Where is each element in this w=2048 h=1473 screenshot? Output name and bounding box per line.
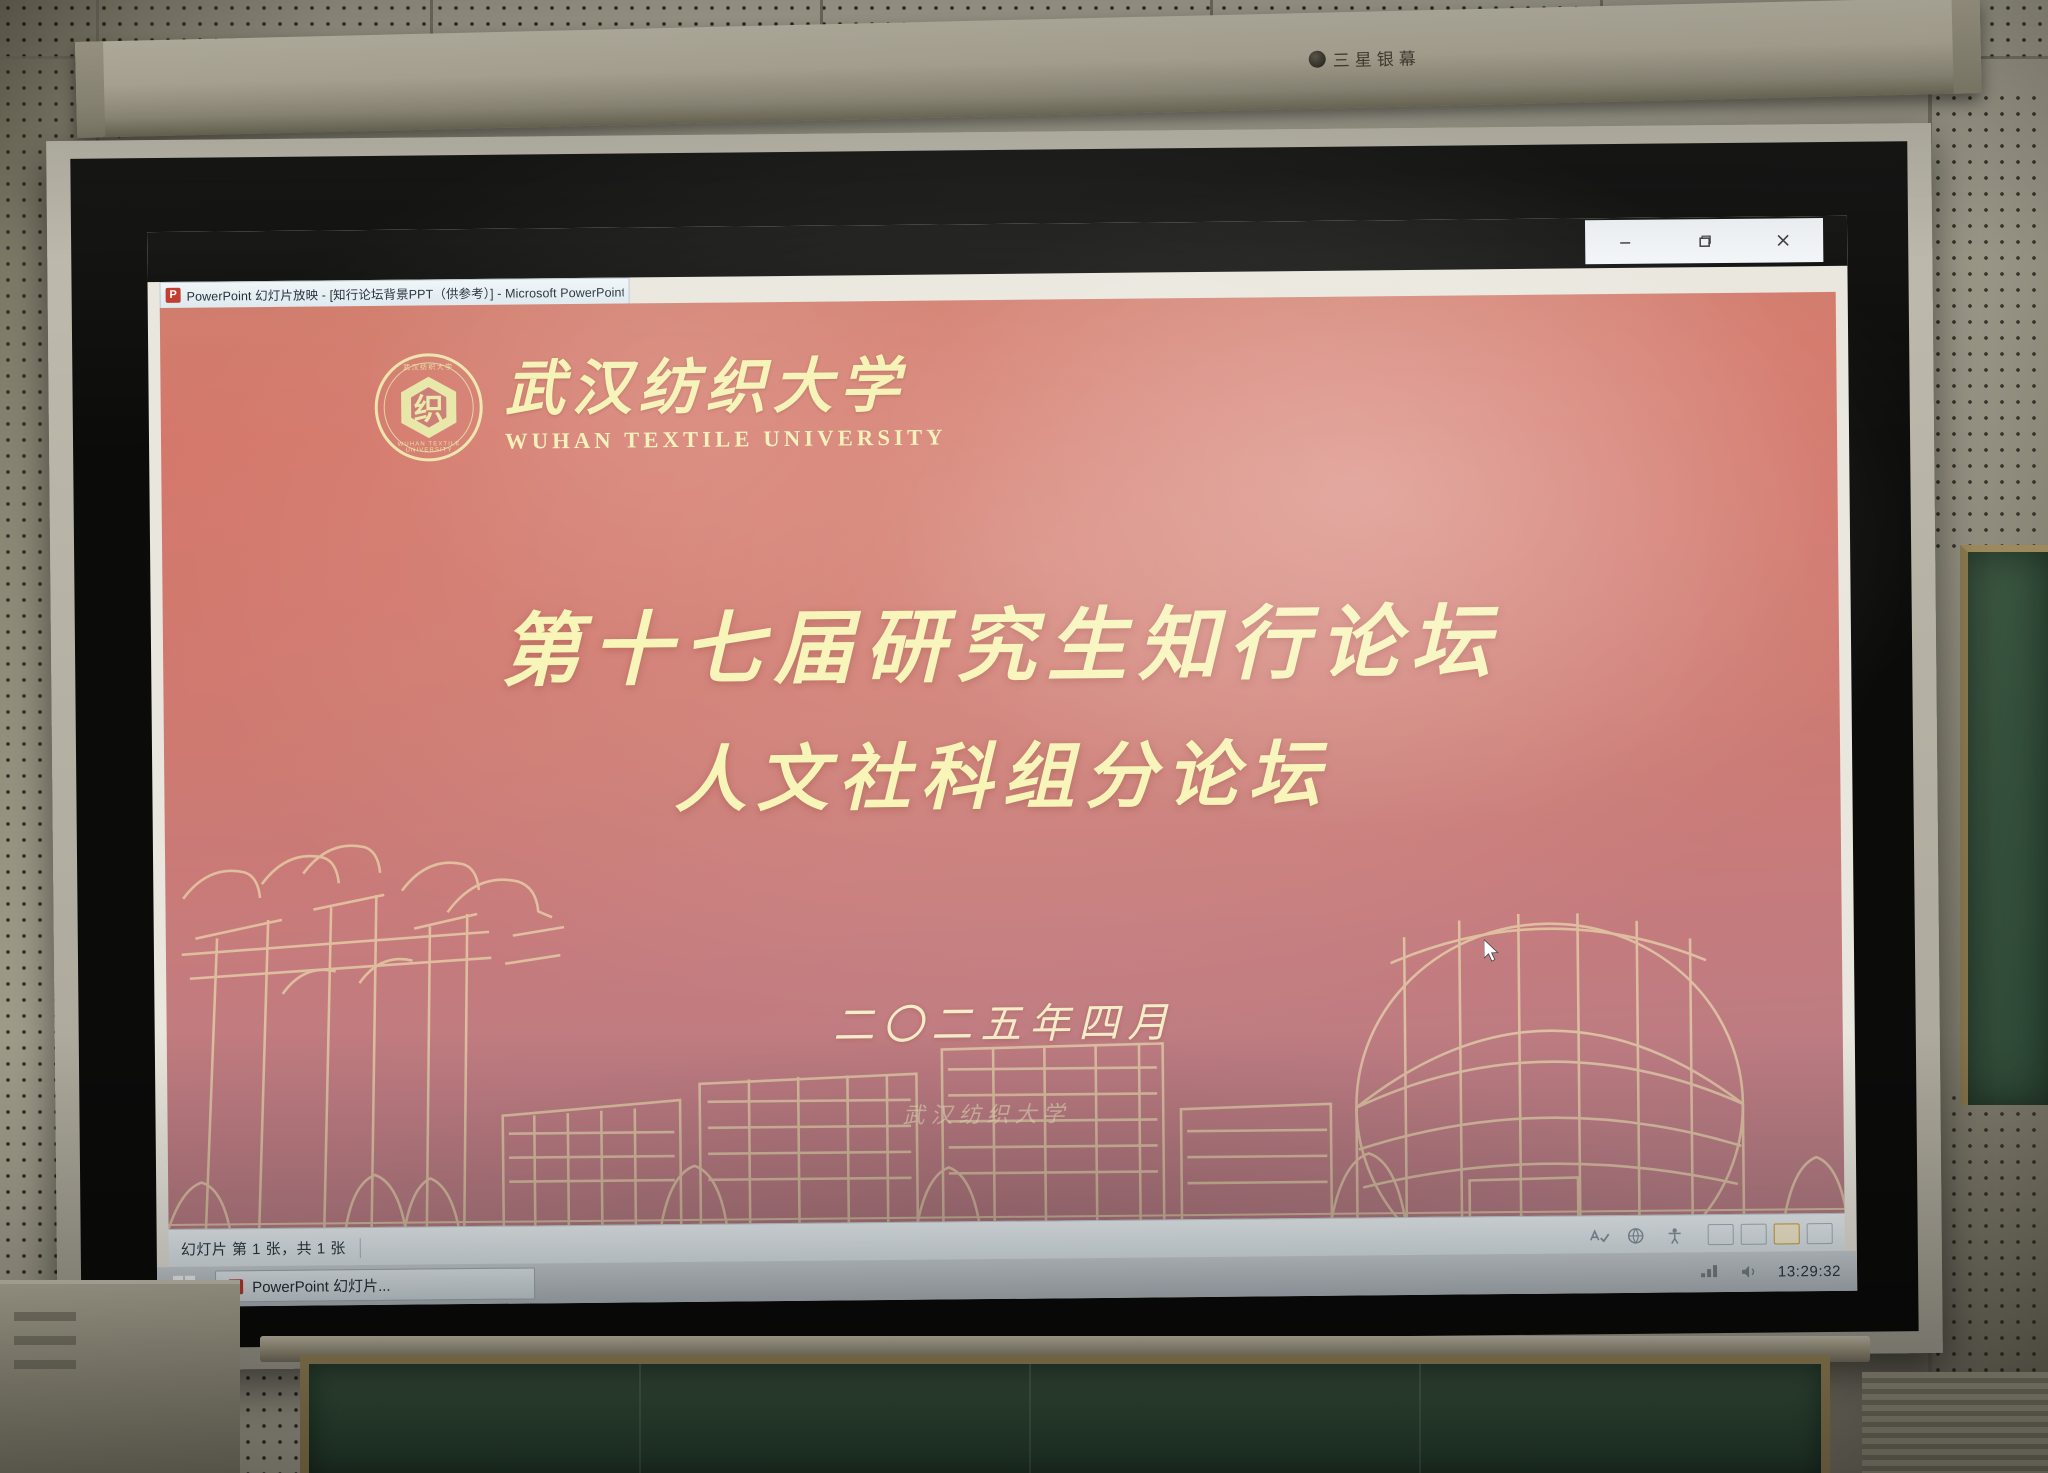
board-seam-2 [1029, 1364, 1031, 1473]
university-crest-icon: 武汉纺织大学 织 WUHAN TEXTILE UNIVERSITY [374, 353, 483, 462]
perforated-panel-right [1930, 90, 2048, 560]
taskbar-item-powerpoint[interactable]: P PowerPoint 幻灯片... [215, 1267, 535, 1302]
university-logo-block: 武汉纺织大学 织 WUHAN TEXTILE UNIVERSITY 武汉纺织大学… [374, 348, 947, 461]
roller-brand: 三星银幕 [1308, 44, 1421, 72]
slide-title-main: 第十七届研究生知行论坛 [162, 574, 1839, 706]
cabinet-strip-3 [14, 1360, 76, 1369]
system-tray: 13:29:32 [1698, 1262, 1851, 1281]
screenshot-root: 三星银幕 [0, 0, 2048, 1473]
normal-view-button[interactable] [1708, 1224, 1734, 1245]
crest-arc-top: 武汉纺织大学 [374, 362, 482, 373]
university-name-en: WUHAN TEXTILE UNIVERSITY [505, 424, 947, 454]
screen-black-border: P PowerPoint 幻灯片放映 - [知行论坛背景PPT（供参考）] - … [70, 141, 1918, 1349]
taskbar-item-label: PowerPoint 幻灯片... [252, 1274, 391, 1296]
side-chalkboard [1960, 545, 2048, 1105]
powerpoint-icon: P [166, 288, 181, 303]
volume-icon[interactable] [1738, 1263, 1760, 1281]
mouse-cursor-icon [1484, 939, 1499, 963]
window-controls [1585, 218, 1823, 264]
slide-canvas[interactable]: 武汉纺织大学 武汉纺织大学 织 WUHAN TEXTILE UNIVERSITY… [160, 292, 1845, 1229]
roller-brand-logo-icon [1309, 51, 1326, 68]
taskbar-clock: 13:29:32 [1778, 1262, 1841, 1280]
campus-building-sign: 武汉纺织大学 [902, 1096, 1070, 1130]
bottom-chalkboard [300, 1355, 1830, 1473]
spell-check-icon[interactable] [1588, 1227, 1610, 1245]
accessibility-icon[interactable] [1664, 1226, 1686, 1244]
status-divider [360, 1238, 361, 1258]
slide-sorter-view-button[interactable] [1741, 1224, 1767, 1245]
slide-count-label: 幻灯片 第 1 张，共 1 张 [181, 1237, 346, 1260]
board-seam-3 [1419, 1364, 1421, 1473]
view-buttons [1708, 1223, 1833, 1245]
cabinet-strip-1 [14, 1312, 76, 1321]
minimize-icon[interactable] [1585, 220, 1665, 265]
network-icon[interactable] [1698, 1263, 1720, 1281]
board-seam-1 [639, 1364, 641, 1473]
left-wall-cabinet [0, 1280, 240, 1473]
window-title: PowerPoint 幻灯片放映 - [知行论坛背景PPT（供参考）] - Mi… [187, 282, 624, 305]
university-name-cn: 武汉纺织大学 [504, 355, 946, 419]
language-icon[interactable] [1626, 1226, 1648, 1244]
crest-arc-bottom: WUHAN TEXTILE UNIVERSITY [375, 441, 483, 454]
reading-view-button[interactable] [1774, 1223, 1800, 1244]
roller-brand-label: 三星银幕 [1332, 44, 1421, 71]
status-bar-right [1588, 1223, 1833, 1246]
projected-desktop: P PowerPoint 幻灯片放映 - [知行论坛背景PPT（供参考）] - … [147, 216, 1857, 1307]
restore-icon[interactable] [1664, 219, 1744, 264]
crest-glyph: 织 [413, 384, 443, 428]
wall-vent [1862, 1372, 2048, 1473]
cabinet-strip-2 [14, 1336, 76, 1345]
window-titlebar [147, 216, 1847, 282]
roller-cap-left [75, 41, 105, 138]
slideshow-view-button[interactable] [1807, 1223, 1833, 1244]
roller-cap-right [1951, 0, 1981, 94]
projection-screen: P PowerPoint 幻灯片放映 - [知行论坛背景PPT（供参考）] - … [46, 123, 1943, 1371]
perforated-panel-right-lower [1930, 1090, 2048, 1380]
close-icon[interactable] [1744, 218, 1824, 263]
slide-title-sub: 人文社科组分论坛 [164, 710, 1841, 831]
